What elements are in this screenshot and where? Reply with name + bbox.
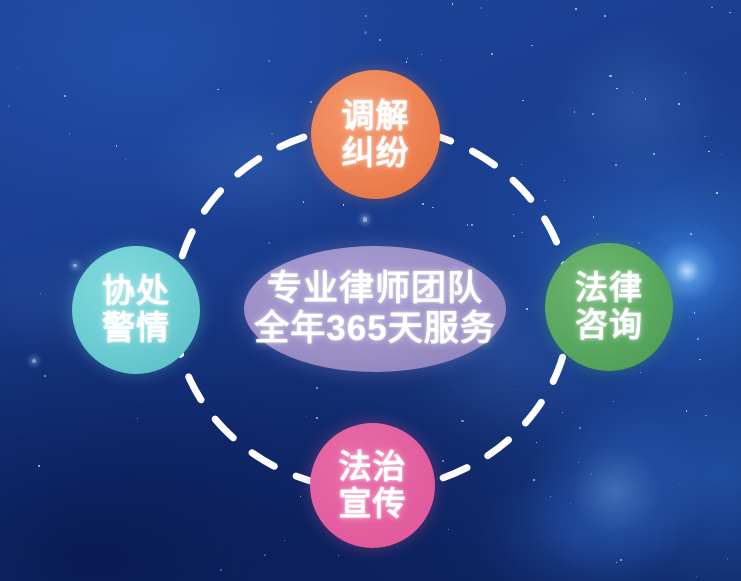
node-assist-police-incidents-line-1: 协处 bbox=[102, 273, 170, 310]
center-highlight[interactable]: 专业律师团队 全年365天服务 bbox=[244, 246, 506, 372]
infographic-canvas: 专业律师团队 全年365天服务 调解 纠纷 协处 警情 法律 咨询 法治 宣传 bbox=[0, 0, 741, 581]
node-legal-consultation[interactable]: 法律 咨询 bbox=[545, 243, 673, 371]
node-rule-of-law-publicity-line-2: 宣传 bbox=[339, 486, 407, 523]
node-legal-consultation-line-1: 法律 bbox=[575, 270, 643, 307]
node-mediate-disputes[interactable]: 调解 纠纷 bbox=[311, 70, 440, 199]
node-rule-of-law-publicity-line-1: 法治 bbox=[339, 449, 407, 486]
node-assist-police-incidents-line-2: 警情 bbox=[102, 310, 170, 347]
node-assist-police-incidents[interactable]: 协处 警情 bbox=[72, 246, 200, 374]
center-line-1: 专业律师团队 bbox=[267, 269, 483, 309]
node-mediate-disputes-line-2: 纠纷 bbox=[342, 135, 410, 172]
node-legal-consultation-line-2: 咨询 bbox=[575, 307, 643, 344]
center-line-2: 全年365天服务 bbox=[254, 309, 495, 349]
node-rule-of-law-publicity[interactable]: 法治 宣传 bbox=[310, 423, 435, 548]
node-mediate-disputes-line-1: 调解 bbox=[342, 98, 410, 135]
